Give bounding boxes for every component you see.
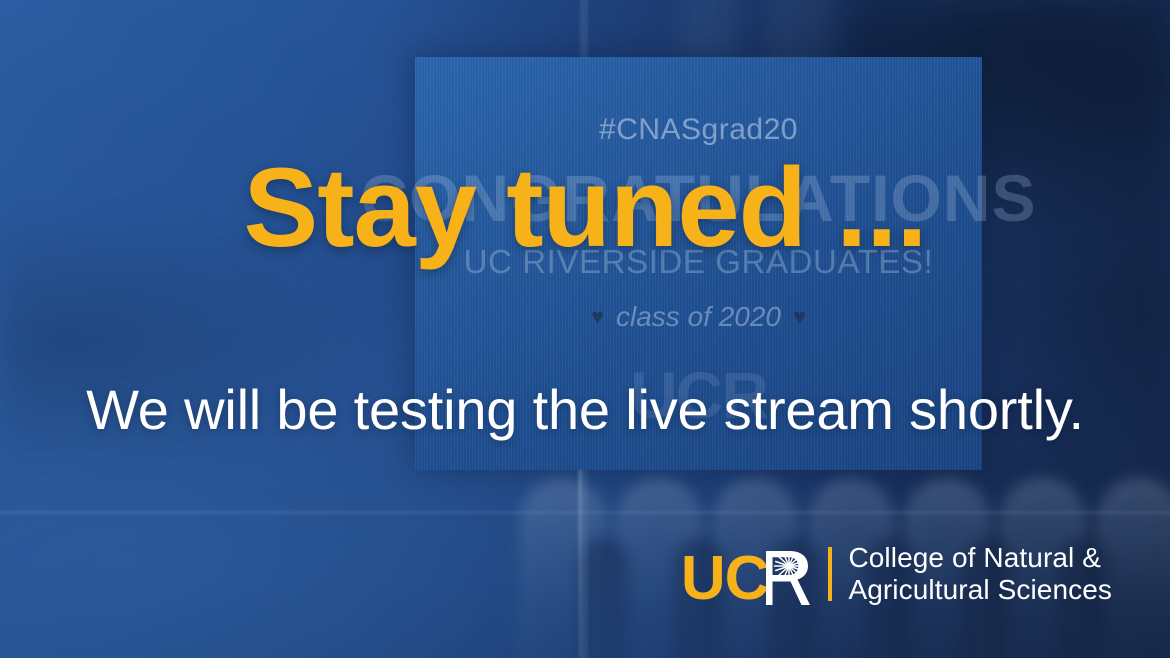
yard-sign-stake [578, 470, 582, 658]
ucr-wordmark: UC [681, 543, 813, 605]
status-message: We will be testing the live stream short… [0, 382, 1170, 438]
livestream-holding-slide: #CNASgrad20 CONGRATULATIONS UC RIVERSIDE… [0, 0, 1170, 658]
heart-icon: ♥ [793, 304, 806, 330]
ucr-sunburst-r-icon [766, 551, 812, 605]
ucr-wordmark-uc: UC [681, 552, 769, 605]
sign-class-label: class of 2020 [616, 301, 781, 333]
page-title: Stay tuned ... [0, 152, 1170, 264]
arch-opening [578, 538, 630, 658]
sign-class-line: ♥ class of 2020 ♥ [591, 301, 806, 333]
logo-college-name: College of Natural & Agricultural Scienc… [848, 542, 1112, 606]
heart-icon: ♥ [591, 304, 604, 330]
sign-hashtag: #CNASgrad20 [599, 113, 798, 147]
logo-college-name-line1: College of Natural & [848, 542, 1112, 574]
logo-college-name-line2: Agricultural Sciences [848, 574, 1112, 606]
ucr-cnas-logo: UC [681, 542, 1112, 606]
logo-divider [828, 547, 832, 601]
